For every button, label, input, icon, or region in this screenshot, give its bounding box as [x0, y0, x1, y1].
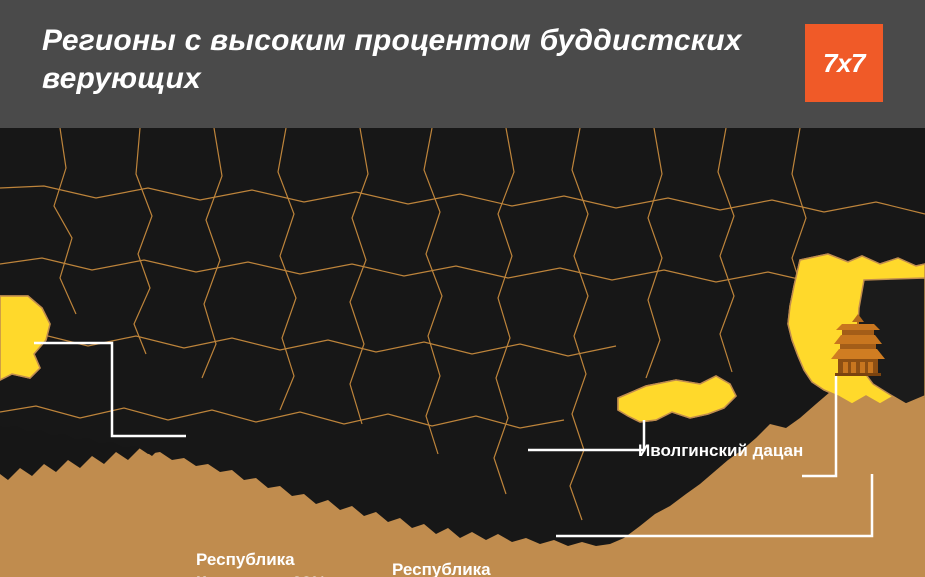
label-tyva: Республика Тыва, 62%	[392, 558, 491, 577]
label-kalmykia: Республика Калмыкия, 38%	[196, 548, 326, 577]
infographic-root: Республика Калмыкия, 38% Республика Тыва…	[0, 0, 925, 577]
header-bar: Регионы с высоким процентом буддистских …	[0, 0, 925, 128]
map-svg	[0, 128, 925, 577]
logo-text: 7x7	[805, 24, 883, 102]
map-canvas: Республика Калмыкия, 38% Республика Тыва…	[0, 128, 925, 577]
logo-badge[interactable]: 7x7	[805, 24, 883, 102]
label-ivolginsky-datsan: Иволгинский дацан	[638, 439, 803, 462]
page-title: Регионы с высоким процентом буддистских …	[42, 22, 762, 98]
